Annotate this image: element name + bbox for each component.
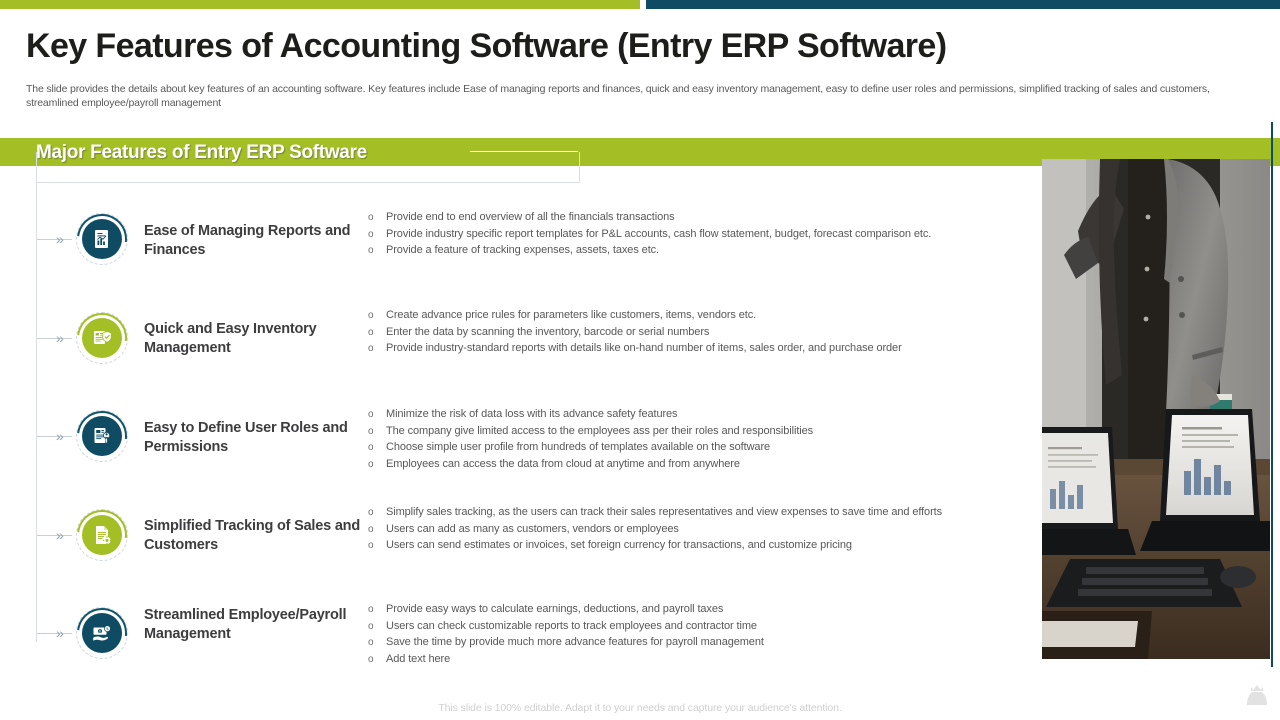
footer-note: This slide is 100% editable. Adapt it to… [0,702,1280,714]
bullet-text: Save the time by provide much more advan… [386,636,764,648]
top-accent-bar [0,0,1280,9]
bullet-item: oChoose simple user profile from hundred… [366,440,1016,456]
bullet-marker: o [368,227,373,243]
bullet-item: oProvide easy ways to calculate earnings… [366,602,1016,618]
bullet-item: oProvide industry specific report templa… [366,227,1016,243]
bullet-item: oUsers can check customizable reports to… [366,619,1016,635]
feature-icon-2 [76,312,128,364]
feature-bullets-5: oProvide easy ways to calculate earnings… [366,602,1016,668]
bullet-marker: o [368,341,373,357]
feature-icon-3 [76,410,128,462]
bullet-text: Enter the data by scanning the inventory… [386,326,709,338]
page-title: Key Features of Accounting Software (Ent… [26,26,1156,66]
right-vertical-rule [1271,122,1273,667]
feature-title-4: Simplified Tracking of Sales and Custome… [144,517,364,555]
bullet-marker: o [368,522,373,538]
bullet-text: Users can check customizable reports to … [386,620,757,632]
bullet-text: The company give limited access to the e… [386,425,813,437]
bullet-text: Provide a feature of tracking expenses, … [386,244,659,256]
bullet-text: Users can add as many as customers, vend… [386,523,679,535]
top-accent-teal [646,0,1280,9]
feature-title-3: Easy to Define User Roles and Permission… [144,419,364,457]
bullet-marker: o [368,210,373,226]
chevron-right-icon: » [56,529,64,541]
bullet-marker: o [368,505,373,521]
bullet-marker: o [368,308,373,324]
bullet-marker: o [368,652,373,668]
bullet-marker: o [368,407,373,423]
feature-bullets-3: oMinimize the risk of data loss with its… [366,407,1016,473]
bullet-item: oAdd text here [366,652,1016,668]
bullet-marker: o [368,424,373,440]
bullet-item: oProvide industry-standard reports with … [366,341,1016,357]
bullet-text: Simplify sales tracking, as the users ca… [386,506,942,518]
timeline-spine [36,182,37,642]
inventory-shield-icon [82,318,122,358]
bullet-text: Create advance price rules for parameter… [386,309,756,321]
feature-title-5: Streamlined Employee/Payroll Management [144,606,364,644]
bullet-item: oEnter the data by scanning the inventor… [366,325,1016,341]
connector-line-3 [37,436,72,437]
bullet-item: oProvide end to end overview of all the … [366,210,1016,226]
user-permissions-document-icon [82,416,122,456]
feature-icon-5: $ $ [76,607,128,659]
bullet-marker: o [368,635,373,651]
bullet-text: Minimize the risk of data loss with its … [386,408,677,420]
svg-text:$: $ [99,630,101,634]
bullet-marker: o [368,325,373,341]
bullet-item: oThe company give limited access to the … [366,424,1016,440]
bullet-text: Provide easy ways to calculate earnings,… [386,603,723,615]
bullet-item: oSimplify sales tracking, as the users c… [366,505,1016,521]
bullet-text: Provide industry-standard reports with d… [386,342,902,354]
bullet-text: Add text here [386,653,450,665]
feature-bullets-4: oSimplify sales tracking, as the users c… [366,505,1016,555]
bullet-marker: o [368,243,373,259]
bullet-item: oCreate advance price rules for paramete… [366,308,1016,324]
connector-line-2 [37,338,72,339]
bullet-item: oProvide a feature of tracking expenses,… [366,243,1016,259]
chevron-right-icon: » [56,233,64,245]
section-banner-label: Major Features of Entry ERP Software [36,139,367,167]
bullet-text: Users can send estimates or invoices, se… [386,539,852,551]
slide-root: Key Features of Accounting Software (Ent… [0,0,1280,720]
bullet-item: oEmployees can access the data from clou… [366,457,1016,473]
feature-icon-1 [76,213,128,265]
bullet-item: oSave the time by provide much more adva… [366,635,1016,651]
chevron-right-icon: » [56,430,64,442]
document-gear-icon [82,515,122,555]
connector-line-4 [37,535,72,536]
section-banner-rule [470,151,578,152]
businessman-standing-near-laptops-photo [1042,159,1270,659]
feature-bullets-1: oProvide end to end overview of all the … [366,210,1016,260]
bullet-item: oMinimize the risk of data loss with its… [366,407,1016,423]
bullet-marker: o [368,619,373,635]
feature-bullets-2: oCreate advance price rules for paramete… [366,308,1016,358]
bullet-text: Choose simple user profile from hundreds… [386,441,770,453]
connector-line-5 [37,633,72,634]
bullet-marker: o [368,538,373,554]
bullet-text: Provide industry specific report templat… [386,228,931,240]
bullet-marker: o [368,602,373,618]
chevron-right-icon: » [56,627,64,639]
bullet-item: oUsers can add as many as customers, ven… [366,522,1016,538]
report-chart-document-icon [82,219,122,259]
bullet-marker: o [368,440,373,456]
bullet-marker: o [368,457,373,473]
feature-title-1: Ease of Managing Reports and Finances [144,222,364,260]
feature-icon-4 [76,509,128,561]
bullet-text: Provide end to end overview of all the f… [386,211,675,223]
feature-title-2: Quick and Easy Inventory Management [144,320,364,358]
connector-line-1 [37,239,72,240]
chevron-right-icon: » [56,332,64,344]
top-accent-green [0,0,640,9]
payroll-cash-hand-icon: $ $ [82,613,122,653]
bullet-item: oUsers can send estimates or invoices, s… [366,538,1016,554]
bullet-text: Employees can access the data from cloud… [386,458,740,470]
page-subtitle: The slide provides the details about key… [26,82,1254,110]
crown-figure-watermark [1243,678,1271,710]
